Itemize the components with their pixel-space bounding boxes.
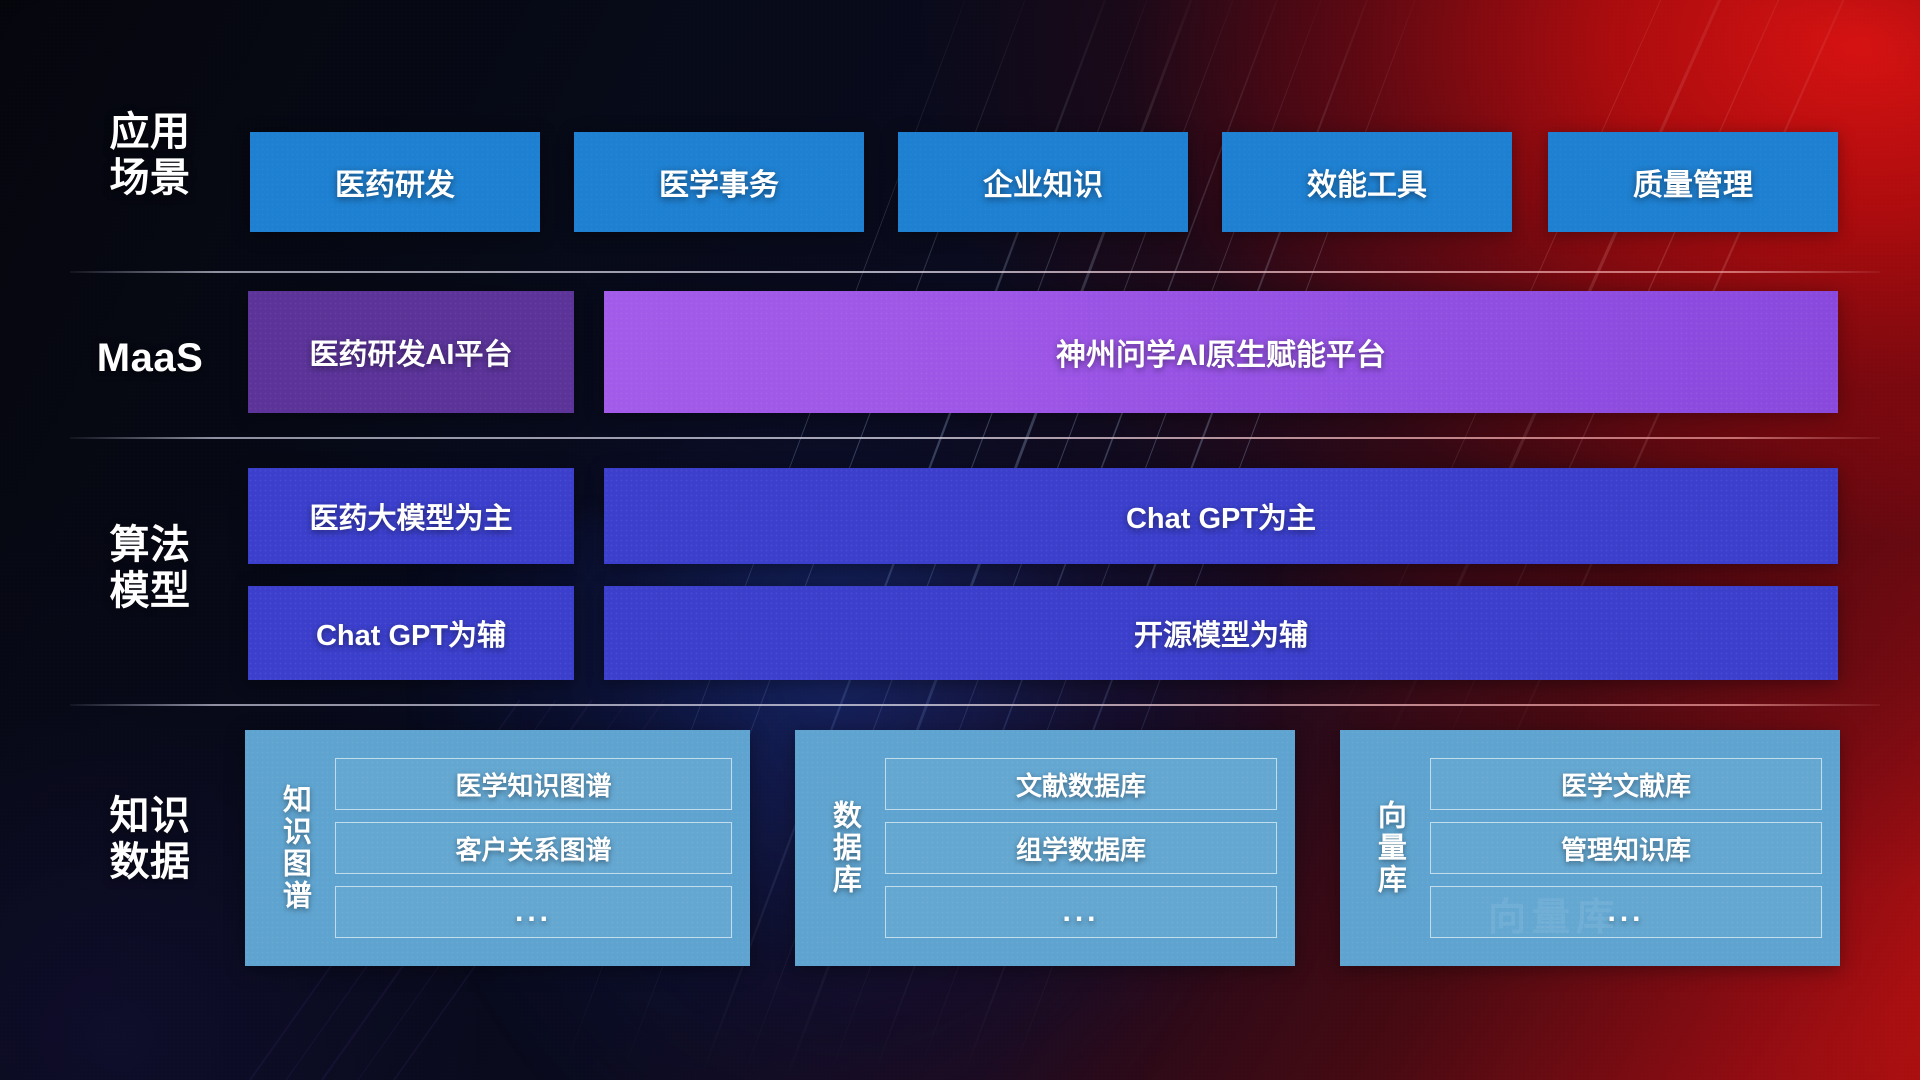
- knowledge-group-database-label: 数据库: [821, 744, 867, 952]
- knowledge-item-label: 医学文献库: [1561, 766, 1691, 803]
- knowledge-group-knowledge-graph-label: 知识图谱: [271, 744, 317, 952]
- app-card-2[interactable]: 企业知识: [898, 132, 1188, 232]
- knowledge-item-label: 组学数据库: [1016, 830, 1146, 867]
- row-label-algorithm-model: 算法 模型: [70, 523, 230, 614]
- knowledge-item[interactable]: 客户关系图谱: [335, 822, 732, 874]
- algo-card-primary-medical[interactable]: 医药大模型为主: [248, 468, 574, 564]
- divider-after-application-scenarios: [70, 271, 1880, 273]
- knowledge-item-label: 医学知识图谱: [455, 766, 611, 803]
- knowledge-group-database[interactable]: 数据库 文献数据库 组学数据库 ...: [795, 730, 1295, 966]
- knowledge-item[interactable]: 组学数据库: [885, 822, 1277, 874]
- maas-platform-card[interactable]: 医药研发AI平台: [248, 291, 574, 413]
- knowledge-group-knowledge-graph-items: 医学知识图谱 客户关系图谱 ...: [335, 758, 732, 938]
- app-card-4[interactable]: 质量管理: [1548, 132, 1838, 232]
- knowledge-item-more-label: ...: [515, 895, 552, 929]
- app-card-0[interactable]: 医药研发: [250, 132, 540, 232]
- knowledge-group-vector-store-label: 向量库: [1366, 744, 1412, 952]
- knowledge-item[interactable]: 文献数据库: [885, 758, 1277, 810]
- app-card-1[interactable]: 医学事务: [574, 132, 864, 232]
- algo-card-primary-medical-label: 医药大模型为主: [309, 495, 512, 537]
- knowledge-item-more[interactable]: ...: [335, 886, 732, 938]
- divider-after-maas: [70, 437, 1880, 439]
- knowledge-item-more-label: ...: [1062, 895, 1099, 929]
- knowledge-item-label: 客户关系图谱: [455, 830, 611, 867]
- watermark: 向量库: [1488, 886, 1620, 941]
- app-card-3[interactable]: 效能工具: [1222, 132, 1512, 232]
- algo-card-secondary-chatgpt-label: Chat GPT为辅: [316, 612, 506, 654]
- knowledge-group-knowledge-graph[interactable]: 知识图谱 医学知识图谱 客户关系图谱 ...: [245, 730, 750, 966]
- row-label-application-scenarios: 应用 场景: [70, 110, 230, 201]
- knowledge-group-database-items: 文献数据库 组学数据库 ...: [885, 758, 1277, 938]
- algo-bar-secondary-opensource-label: 开源模型为辅: [1134, 612, 1308, 654]
- architecture-diagram: 应用 场景 医药研发 医学事务 企业知识 效能工具 质量管理 MaaS 医药研发…: [0, 0, 1920, 1080]
- maas-enablement-platform-bar[interactable]: 神州问学AI原生赋能平台: [604, 291, 1838, 413]
- knowledge-item[interactable]: 管理知识库: [1430, 822, 1822, 874]
- algo-card-secondary-chatgpt[interactable]: Chat GPT为辅: [248, 586, 574, 680]
- app-card-2-label: 企业知识: [983, 160, 1103, 204]
- app-card-0-label: 医药研发: [335, 160, 455, 204]
- algo-bar-secondary-opensource[interactable]: 开源模型为辅: [604, 586, 1838, 680]
- algo-bar-primary-chatgpt-label: Chat GPT为主: [1126, 495, 1316, 537]
- knowledge-item-label: 管理知识库: [1561, 830, 1691, 867]
- knowledge-item-more[interactable]: ...: [885, 886, 1277, 938]
- knowledge-item[interactable]: 医学知识图谱: [335, 758, 732, 810]
- maas-enablement-platform-label: 神州问学AI原生赋能平台: [1056, 330, 1386, 374]
- divider-after-algorithm-model: [70, 704, 1880, 706]
- knowledge-item-label: 文献数据库: [1016, 766, 1146, 803]
- app-card-4-label: 质量管理: [1633, 160, 1753, 204]
- app-card-1-label: 医学事务: [659, 160, 779, 204]
- row-label-knowledge-data: 知识 数据: [70, 794, 230, 885]
- knowledge-item[interactable]: 医学文献库: [1430, 758, 1822, 810]
- algo-bar-primary-chatgpt[interactable]: Chat GPT为主: [604, 468, 1838, 564]
- app-card-3-label: 效能工具: [1307, 160, 1427, 204]
- maas-platform-card-label: 医药研发AI平台: [309, 331, 512, 373]
- row-label-maas: MaaS: [70, 336, 230, 382]
